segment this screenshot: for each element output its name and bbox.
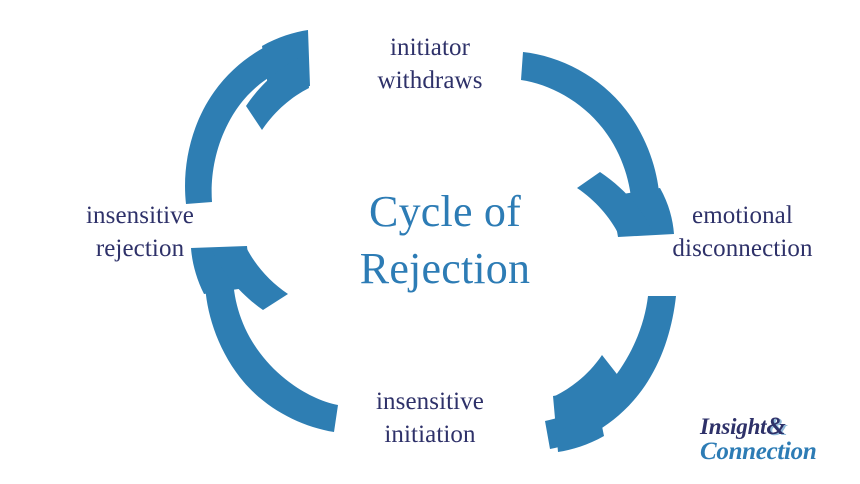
cycle-node-label-emotional-disconnection: emotional disconnection — [630, 200, 855, 265]
logo-line-connection: Connection — [700, 439, 850, 465]
cycle-node-label-initiator-withdraws: initiator withdraws — [300, 32, 560, 97]
arrow-right-to-bottom — [545, 296, 676, 452]
cycle-node-label-insensitive-rejection: insensitive rejection — [40, 200, 240, 265]
arrow-bottom-to-left — [191, 246, 338, 432]
logo-ampersand-icon: & — [766, 413, 785, 440]
logo-word-insight: Insight — [700, 414, 766, 439]
cycle-node-label-insensitive-initiation: insensitive initiation — [330, 386, 530, 451]
insight-and-connection-logo: Insight& Connection — [700, 414, 850, 464]
logo-line-insight: Insight& — [700, 414, 850, 440]
diagram-center-title: Cycle of Rejection — [320, 183, 570, 297]
arrow-left-to-top — [185, 30, 310, 204]
cycle-of-rejection-diagram: initiator withdraws emotional disconnect… — [0, 0, 860, 484]
